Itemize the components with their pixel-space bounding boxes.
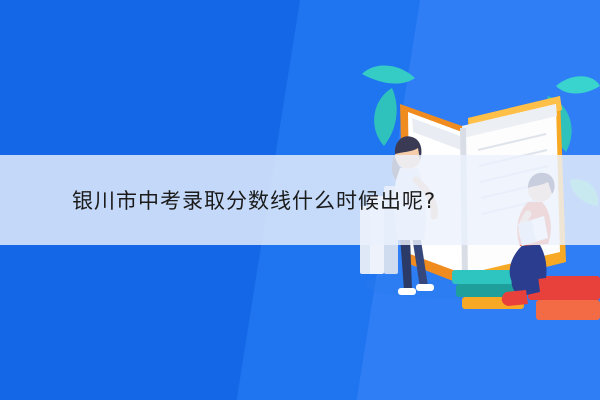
page-title: 银川市中考录取分数线什么时候出呢?: [72, 185, 436, 215]
title-banner: 银川市中考录取分数线什么时候出呢?: [0, 155, 600, 245]
image-canvas: 银川市中考录取分数线什么时候出呢?: [0, 0, 600, 400]
